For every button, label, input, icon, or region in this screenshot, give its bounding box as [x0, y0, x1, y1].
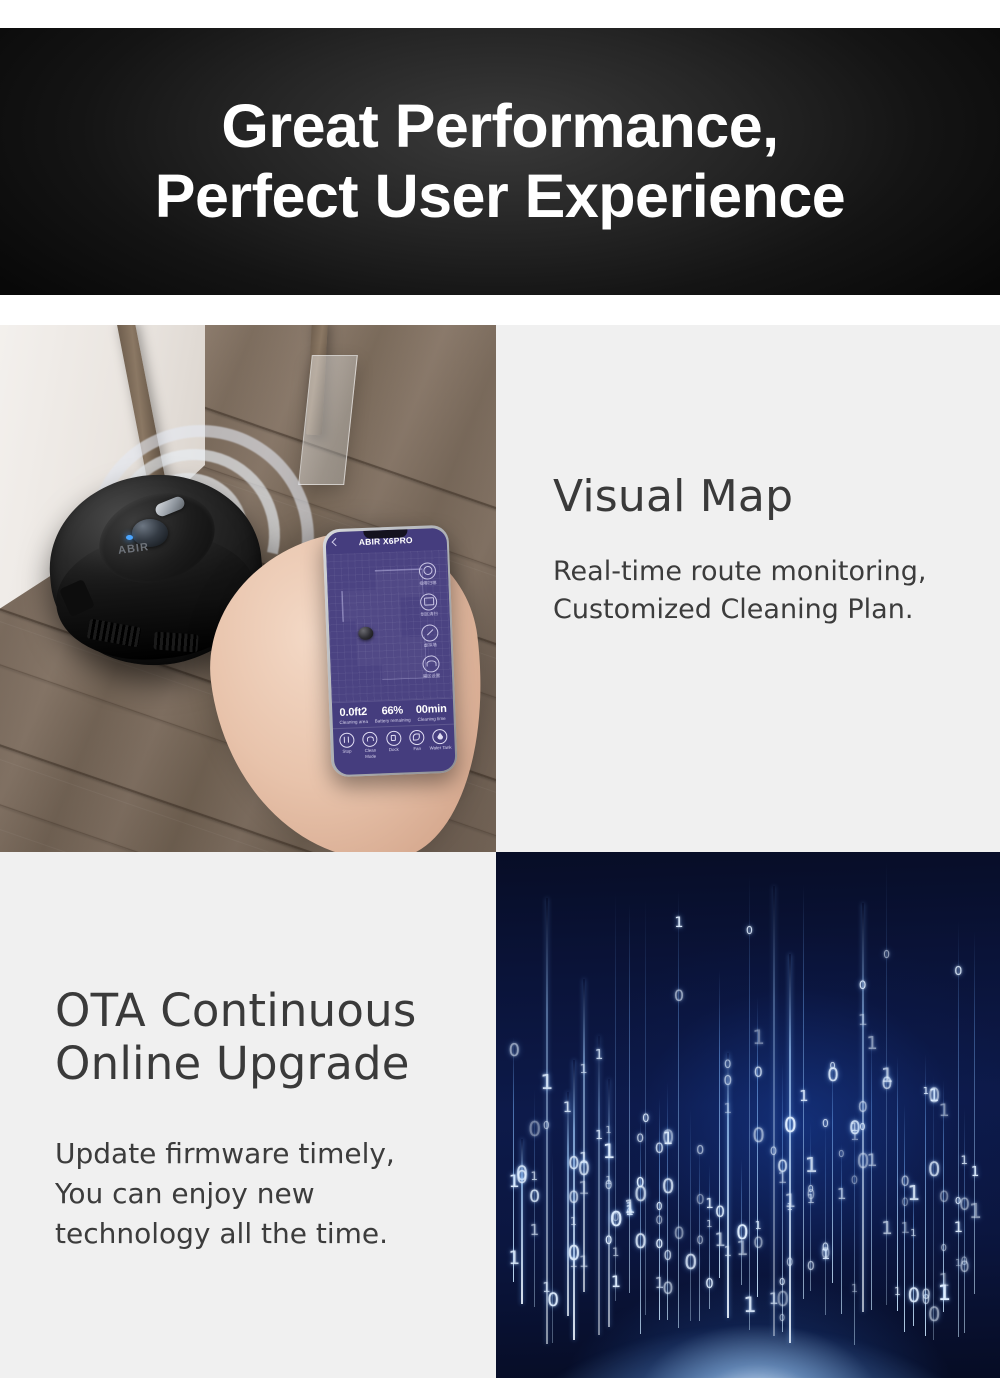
stat-battery-remaining: 66% Battery remaining — [373, 704, 413, 723]
binary-digit: 0 — [636, 1133, 644, 1145]
binary-digit: 1 — [578, 1180, 589, 1198]
binary-digit: 1 — [866, 1036, 877, 1054]
binary-digit: 1 — [969, 1201, 982, 1222]
binary-digit: 0 — [959, 1259, 969, 1275]
binary-digit: 1 — [723, 1103, 732, 1116]
binary-digit: 1 — [910, 1229, 916, 1239]
binary-digit: 1 — [579, 1254, 589, 1270]
data-stream-line — [583, 979, 585, 1292]
binary-digit: 0 — [822, 1119, 829, 1129]
map-tool-zone-clean[interactable]: 指哪扫哪 — [412, 561, 443, 586]
binary-digit: 1 — [603, 1142, 616, 1162]
binary-digit: 0 — [696, 1144, 704, 1156]
binary-digit: 0 — [674, 988, 684, 1004]
binary-digit: 0 — [605, 1179, 613, 1191]
binary-digit: 0 — [807, 1260, 815, 1272]
map-tool-label: 禁区设置 — [416, 672, 446, 679]
map-tool-label: 虚拟墙 — [415, 641, 445, 648]
data-stream-line — [615, 893, 616, 1301]
binary-digit: 1 — [867, 1153, 878, 1170]
data-stream-line — [825, 1119, 826, 1315]
data-stream-line — [773, 886, 775, 1336]
virtual-wall-icon — [421, 624, 439, 642]
photo-robot-vacuum-room: ABIR ABIR X6PRO — [0, 325, 496, 852]
binary-digit: 1 — [705, 1198, 713, 1211]
binary-digit: 0 — [777, 1159, 788, 1176]
binary-digit: 0 — [697, 1235, 704, 1246]
zone-clean-icon — [419, 562, 437, 580]
binary-digit: 0 — [851, 1175, 858, 1186]
binary-digit: 0 — [516, 1169, 527, 1187]
binary-digit: 1 — [530, 1224, 539, 1239]
pause-icon — [339, 732, 355, 748]
header-headline-line2: Perfect User Experience — [155, 162, 845, 232]
binary-digit: 0 — [838, 1150, 844, 1160]
binary-digit: 1 — [663, 1131, 674, 1148]
action-dock[interactable]: Dock — [381, 730, 405, 753]
binary-digit: 1 — [907, 1183, 920, 1203]
data-stream-line — [678, 890, 679, 1328]
feature-title: OTA Continuous Online Upgrade — [55, 984, 416, 1090]
stat-label: Battery remaining — [373, 717, 412, 723]
binary-digit: 0 — [784, 1115, 797, 1135]
binary-digit: 0 — [529, 1189, 540, 1206]
action-clean-mode[interactable]: Clean Mode — [358, 731, 382, 759]
map-tool-label: 划区清扫 — [414, 610, 444, 617]
water-tank-icon — [432, 728, 448, 744]
binary-digit: 1 — [805, 1155, 818, 1176]
binary-digit: 1 — [939, 1103, 950, 1120]
binary-digit: 0 — [786, 1257, 793, 1268]
binary-digit: 0 — [715, 1205, 725, 1221]
binary-digit: 1 — [611, 1274, 621, 1290]
binary-digit: 1 — [881, 1066, 894, 1086]
binary-digit: 1 — [799, 1090, 808, 1105]
feature-body: Real-time route monitoring, Customized C… — [553, 553, 926, 630]
smartphone-device: ABIR X6PRO 指哪扫哪 — [322, 525, 457, 778]
app-screen: ABIR X6PRO 指哪扫哪 — [325, 527, 455, 774]
app-map-view[interactable]: 指哪扫哪 划区清扫 虚拟墙 — [326, 549, 453, 702]
action-label: Clean Mode — [359, 747, 383, 759]
binary-digit: 1 — [580, 1063, 588, 1076]
map-tool-area-partition[interactable]: 划区清扫 — [413, 592, 444, 617]
binary-digit: 0 — [859, 980, 867, 992]
binary-digit: 0 — [642, 1113, 649, 1124]
feature-text-visual-map: Visual Map Real-time route monitoring, C… — [496, 325, 1000, 852]
data-stream-line — [608, 1079, 610, 1328]
binary-digit: 1 — [837, 1187, 847, 1202]
data-stream-line — [513, 1037, 514, 1282]
binary-digit: 0 — [662, 1177, 675, 1197]
binary-digit: 0 — [770, 1146, 777, 1157]
binary-digit: 0 — [807, 1189, 815, 1202]
binary-digit: 1 — [570, 1216, 577, 1227]
binary-digit: 0 — [883, 950, 890, 960]
binary-digit: 1 — [612, 1247, 619, 1258]
binary-digit: 0 — [656, 1203, 662, 1213]
binary-digit: 1 — [881, 1220, 892, 1238]
binary-digit: 0 — [723, 1075, 732, 1089]
binary-digit: 0 — [656, 1215, 663, 1227]
data-stream-line — [598, 1036, 600, 1335]
binary-digit: 0 — [655, 1238, 663, 1250]
data-stream-line — [832, 1059, 833, 1282]
binary-digit: 0 — [754, 1067, 763, 1081]
binary-digit: 1 — [724, 1246, 732, 1259]
binary-digit: 0 — [684, 1252, 697, 1273]
map-tool-list: 指哪扫哪 划区清扫 虚拟墙 — [412, 561, 447, 686]
binary-digit: 0 — [858, 1100, 868, 1116]
data-stream-line — [645, 899, 646, 1315]
binary-digit: 0 — [528, 1119, 541, 1139]
action-stop[interactable]: Stop — [335, 732, 359, 755]
binary-digit: 1 — [971, 1166, 979, 1179]
binary-digit: 1 — [784, 1193, 796, 1211]
binary-digit: 1 — [938, 1272, 949, 1290]
action-fan[interactable]: Fan — [405, 729, 429, 752]
binary-digit: 1 — [851, 1122, 859, 1134]
binary-digit: 0 — [821, 1246, 831, 1261]
binary-digit: 1 — [595, 1129, 603, 1141]
robot-position-marker — [358, 626, 373, 640]
map-tool-label: 指哪扫哪 — [413, 579, 443, 586]
stat-value: 00min — [412, 702, 451, 715]
binary-digit: 1 — [961, 1155, 968, 1167]
data-stream-line — [727, 1053, 729, 1318]
dock-icon — [386, 730, 402, 746]
binary-digit: 0 — [753, 1235, 763, 1251]
feature-row-ota-upgrade: OTA Continuous Online Upgrade Update fir… — [0, 852, 1000, 1378]
stat-cleaning-area: 0.0ft2 Cleaning area — [334, 705, 374, 724]
header-headline-line1: Great Performance, — [221, 92, 778, 162]
action-label: Stop — [335, 748, 359, 754]
data-stream-line — [964, 1108, 965, 1332]
binary-digit: 0 — [859, 1123, 865, 1132]
binary-digit: 1 — [900, 1221, 910, 1236]
stat-cleaning-time: 00min Cleaning time — [412, 702, 452, 721]
action-label: Water Tank — [429, 745, 453, 751]
binary-digit: 0 — [941, 1244, 947, 1254]
data-stream-line — [974, 931, 975, 1294]
marketing-infographic-page: Great Performance, Perfect User Experien… — [0, 0, 1000, 1378]
feature-title: Visual Map — [553, 471, 926, 523]
map-tool-virtual-wall[interactable]: 虚拟墙 — [415, 623, 446, 648]
binary-digit: 0 — [664, 1250, 672, 1263]
binary-digit: 1 — [752, 1028, 765, 1048]
binary-digit: 1 — [540, 1072, 553, 1092]
stat-value: 66% — [373, 704, 412, 717]
binary-digit: 1 — [531, 1171, 538, 1183]
photo-binary-data-stream: 1010001011010111000111101111100100110110… — [496, 852, 1000, 1378]
binary-digit: 0 — [696, 1194, 705, 1208]
feature-body: Update firmware timely, You can enjoy ne… — [55, 1134, 416, 1253]
binary-rain-background: 1010001011010111000111101111100100110110… — [496, 852, 1000, 1378]
glass-panel — [298, 355, 358, 485]
binary-digit: 1 — [595, 1049, 603, 1062]
area-partition-icon — [420, 593, 438, 611]
data-stream-line — [933, 1075, 934, 1340]
binary-digit: 0 — [827, 1067, 839, 1085]
action-water-tank[interactable]: Water Tank — [428, 728, 452, 751]
restricted-area-icon — [422, 655, 440, 673]
header-banner: Great Performance, Perfect User Experien… — [0, 28, 1000, 295]
app-action-bar: Stop Clean Mode Dock — [332, 723, 454, 762]
binary-digit: 1 — [894, 1287, 901, 1297]
data-stream-line — [749, 875, 750, 1330]
data-stream-line — [904, 1104, 905, 1332]
binary-digit: 0 — [724, 1059, 731, 1071]
action-label: Fan — [405, 746, 429, 752]
binary-digit: 1 — [508, 1250, 520, 1268]
clean-mode-icon — [362, 731, 378, 747]
binary-digit: 0 — [954, 966, 962, 979]
feature-text-ota-upgrade: OTA Continuous Online Upgrade Update fir… — [0, 852, 496, 1378]
binary-digit: 0 — [746, 926, 753, 937]
binary-digit: 0 — [578, 1159, 590, 1178]
binary-digit: 0 — [612, 1212, 619, 1224]
stat-value: 0.0ft2 — [334, 705, 373, 718]
action-label: Dock — [382, 746, 406, 752]
binary-digit: 1 — [674, 916, 683, 930]
binary-digit: 0 — [736, 1223, 748, 1243]
binary-digit: 0 — [543, 1121, 550, 1132]
binary-digit: 1 — [706, 1220, 712, 1230]
binary-digit: 0 — [752, 1126, 764, 1146]
binary-digit: 1 — [563, 1101, 572, 1115]
binary-digit: 1 — [755, 1220, 762, 1231]
data-stream-line — [629, 904, 630, 1293]
header-banner-text: Great Performance, Perfect User Experien… — [0, 28, 1000, 295]
map-tool-restricted-area[interactable]: 禁区设置 — [416, 654, 447, 679]
feature-row-visual-map: ABIR ABIR X6PRO — [0, 325, 1000, 852]
stat-label: Cleaning time — [412, 715, 451, 721]
binary-digit: 0 — [509, 1042, 520, 1060]
binary-digit: 0 — [939, 1189, 949, 1205]
binary-digit: 1 — [605, 1126, 611, 1136]
data-stream-line — [897, 1056, 898, 1311]
phone-notch — [363, 529, 407, 539]
robot-status-led — [126, 535, 133, 540]
binary-digit: 1 — [858, 1013, 868, 1028]
binary-digit: 0 — [921, 1288, 930, 1302]
stat-label: Cleaning area — [334, 718, 373, 724]
binary-digit: 0 — [674, 1225, 685, 1242]
fan-icon — [409, 729, 425, 745]
binary-digit: 0 — [928, 1160, 940, 1179]
wood-floor-background: ABIR ABIR X6PRO — [0, 325, 496, 852]
binary-digit: 1 — [954, 1221, 963, 1236]
chevron-left-icon[interactable] — [331, 537, 339, 545]
